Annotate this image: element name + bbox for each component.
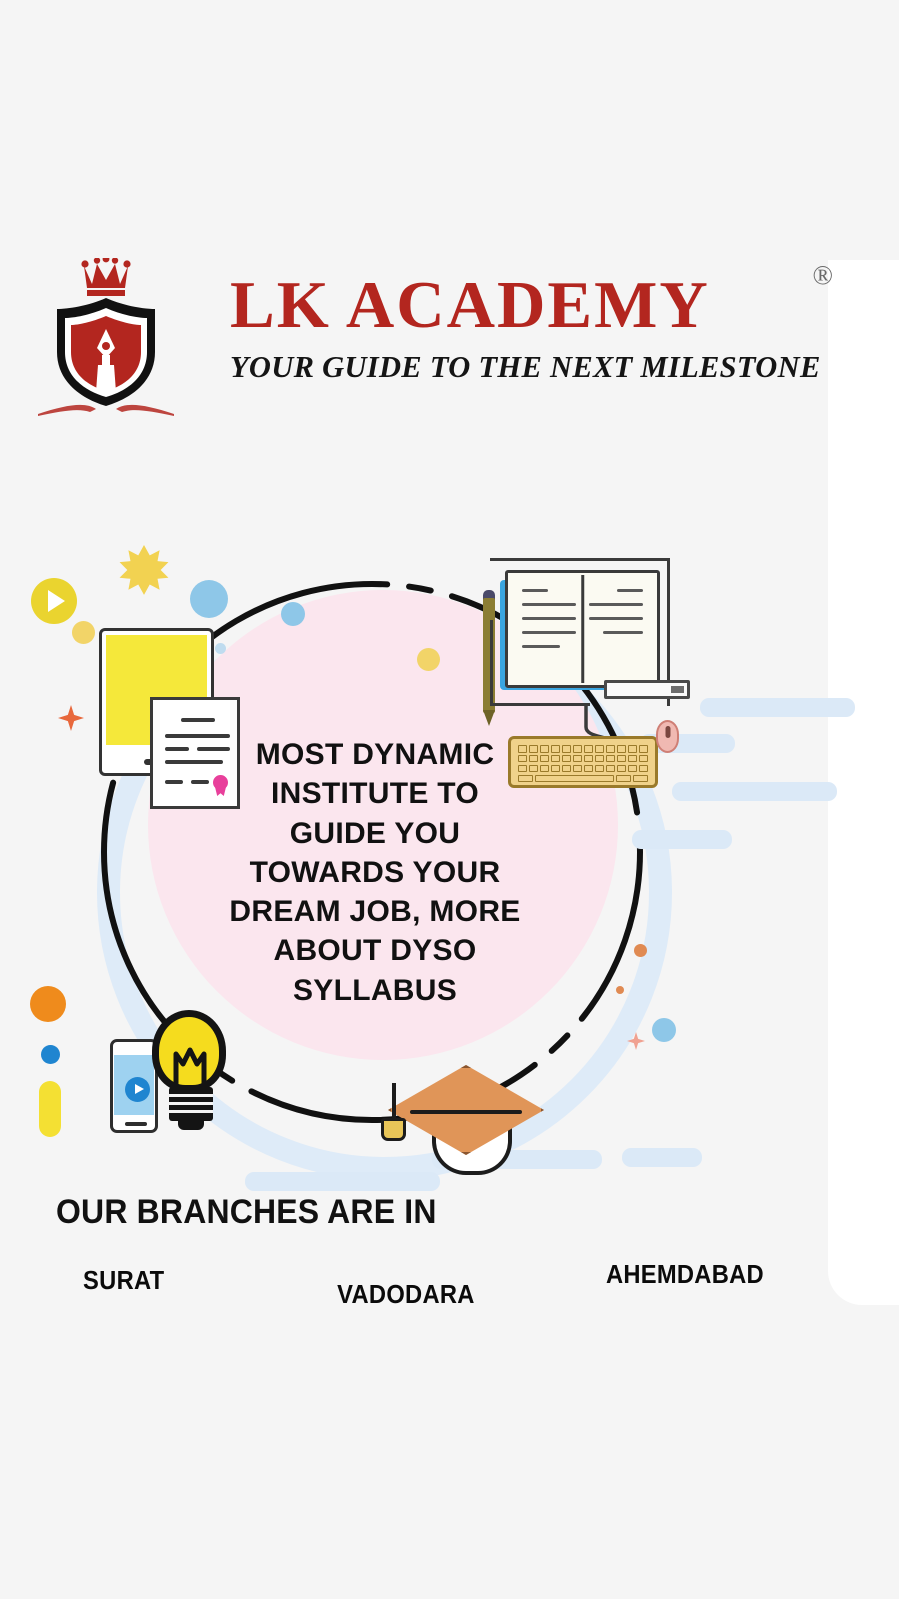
- decor-dot: [417, 648, 440, 671]
- book-spine: [581, 575, 585, 683]
- phone-home-bar: [125, 1122, 147, 1126]
- crown-icon: [80, 258, 132, 298]
- ruler-end: [671, 686, 684, 693]
- branches-section: OUR BRANCHES ARE IN SURAT VADODARA AHEMD…: [0, 1185, 899, 1325]
- hero-message-line: INSTITUTE TO: [205, 774, 545, 813]
- decor-dot: [30, 986, 66, 1022]
- hero-message-line: GUIDE YOU: [205, 814, 545, 853]
- poster-page: LK ACADEMY ® YOUR GUIDE TO THE NEXT MILE…: [0, 0, 899, 1599]
- graduation-tassel-icon: [381, 1118, 406, 1141]
- lightbulb-filament: [172, 1040, 208, 1090]
- decor-dot: [281, 602, 305, 626]
- open-book-icon: [505, 570, 660, 688]
- branch-item-vadodara: VADODARA: [337, 1281, 474, 1310]
- smartphone-video-icon: [110, 1039, 158, 1133]
- graduation-cap-band: [410, 1110, 522, 1114]
- decor-dot: [72, 621, 95, 644]
- hero-message-line: DREAM JOB, MORE: [205, 892, 545, 931]
- hero-message-line: ABOUT DYSO: [205, 931, 545, 970]
- logo-swoosh: [38, 400, 174, 418]
- decor-bar: [39, 1081, 61, 1137]
- graduation-tassel-cord: [392, 1083, 396, 1123]
- decor-dot: [634, 944, 647, 957]
- brand-header: LK ACADEMY ® YOUR GUIDE TO THE NEXT MILE…: [0, 250, 845, 440]
- hero-message: MOST DYNAMIC INSTITUTE TO GUIDE YOU TOWA…: [205, 735, 545, 1010]
- hero-message-line: MOST DYNAMIC: [205, 735, 545, 774]
- lightbulb-tip: [178, 1121, 204, 1130]
- lightbulb-base: [169, 1087, 213, 1121]
- decor-dot: [41, 1045, 60, 1064]
- lk-academy-logo: [38, 258, 168, 438]
- decor-bar: [672, 782, 837, 801]
- decor-dot: [616, 986, 624, 994]
- mouse-button: [665, 726, 670, 738]
- decor-bar: [622, 1148, 702, 1167]
- diamond-sparkle-icon: [58, 705, 84, 731]
- branch-item-surat: SURAT: [83, 1267, 164, 1296]
- play-button-icon: [125, 1077, 150, 1102]
- branches-title: OUR BRANCHES ARE IN: [56, 1193, 437, 1232]
- hero-message-line: SYLLABUS: [205, 971, 545, 1010]
- brand-name-text: LK ACADEMY: [230, 268, 710, 342]
- decor-bar: [632, 830, 732, 849]
- brand-name: LK ACADEMY ®: [230, 272, 845, 339]
- decor-dot: [652, 1018, 676, 1042]
- shield-pen-icon: [52, 296, 160, 408]
- decor-dot: [190, 580, 228, 618]
- decor-dot: [215, 643, 226, 654]
- hero-message-line: TOWARDS YOUR: [205, 853, 545, 892]
- brand-text-block: LK ACADEMY ® YOUR GUIDE TO THE NEXT MILE…: [230, 272, 845, 422]
- play-triangle-icon: [48, 590, 65, 612]
- branch-item-ahemdabad: AHEMDABAD: [606, 1261, 764, 1290]
- ruler-icon: [604, 680, 690, 699]
- pencil-tip: [483, 710, 495, 726]
- mouse-icon: [656, 720, 679, 753]
- registered-trademark-icon: ®: [812, 262, 835, 289]
- decor-bar: [700, 698, 855, 717]
- hero-illustration: MOST DYNAMIC INSTITUTE TO GUIDE YOU TOWA…: [0, 520, 880, 1180]
- brand-tagline: YOUR GUIDE TO THE NEXT MILESTONE: [230, 350, 845, 385]
